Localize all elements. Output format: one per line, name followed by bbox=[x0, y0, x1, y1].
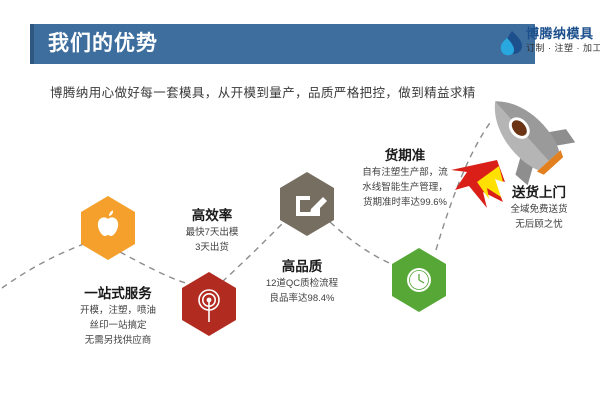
node-label-door-to-door-delivery: 送货上门 全域免费送货 无后顾之忧 bbox=[480, 183, 598, 232]
node-desc-line: 最快7天出模 bbox=[152, 225, 272, 240]
node-one-stop-service[interactable] bbox=[81, 196, 135, 260]
node-high-quality[interactable] bbox=[280, 172, 334, 236]
node-desc-line: 丝印一站搞定 bbox=[38, 318, 198, 333]
node-desc-line: 水线智能生产管理， bbox=[340, 180, 470, 195]
node-title: 高效率 bbox=[152, 206, 272, 225]
node-desc-line: 3天出货 bbox=[152, 240, 272, 255]
node-desc-line: 无后顾之忧 bbox=[480, 217, 598, 232]
node-label-on-time-delivery: 货期准 自有注塑生产部，流 水线智能生产管理， 货期准时率达99.6% bbox=[340, 146, 470, 210]
node-desc-line: 开模，注塑，喷油 bbox=[38, 303, 198, 318]
node-title: 货期准 bbox=[340, 146, 470, 165]
node-label-high-quality: 高品质 12道QC质检流程 良品率达98.4% bbox=[222, 257, 382, 306]
node-label-high-efficiency: 高效率 最快7天出模 3天出货 bbox=[152, 206, 272, 255]
node-label-one-stop-service: 一站式服务 开模，注塑，喷油 丝印一站搞定 无需另找供应商 bbox=[38, 284, 198, 348]
node-desc-line: 货期准时率达99.6% bbox=[340, 195, 470, 210]
node-title: 高品质 bbox=[222, 257, 382, 276]
node-desc-line: 无需另找供应商 bbox=[38, 333, 198, 348]
slide-canvas: 我们的优势 博腾纳用心做好每一套模具，从开模到量产，品质严格把控，做到精益求精 … bbox=[0, 0, 600, 400]
node-desc-line: 良品率达98.4% bbox=[222, 291, 382, 306]
node-desc-line: 自有注塑生产部，流 bbox=[340, 165, 470, 180]
node-desc-line: 全域免费送货 bbox=[480, 202, 598, 217]
node-title: 送货上门 bbox=[480, 183, 598, 202]
node-desc-line: 12道QC质检流程 bbox=[222, 276, 382, 291]
node-title: 一站式服务 bbox=[38, 284, 198, 303]
node-on-time-delivery[interactable] bbox=[392, 248, 446, 312]
